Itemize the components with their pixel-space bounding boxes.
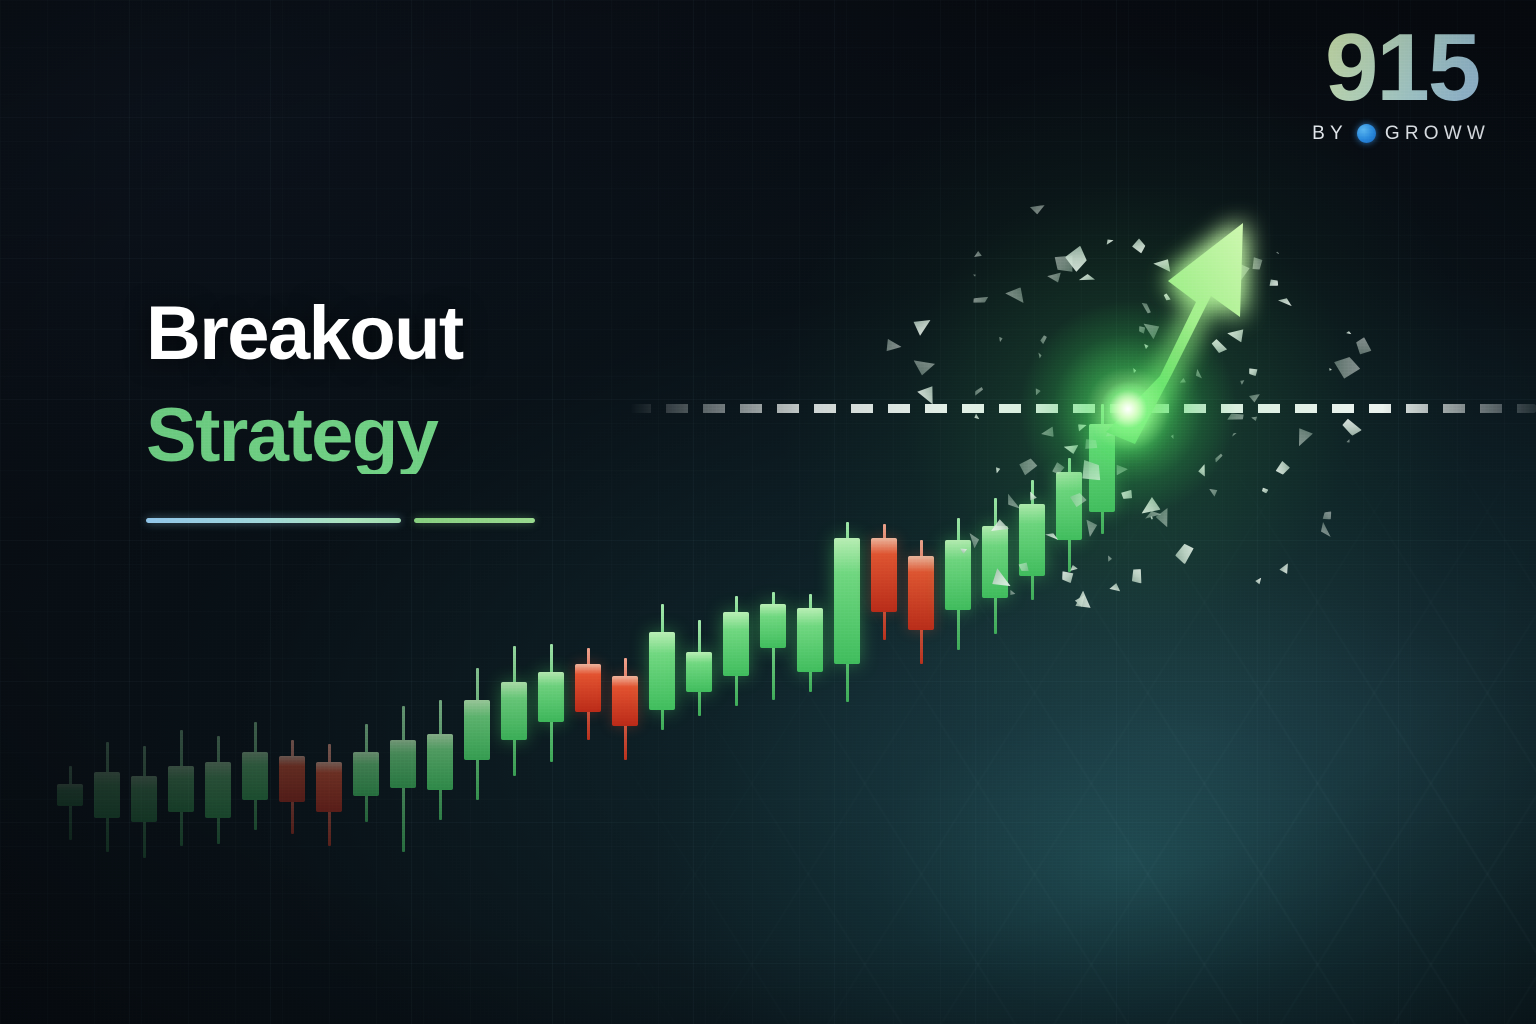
candle-body bbox=[316, 762, 342, 812]
headline-divider bbox=[146, 518, 546, 523]
candle-body bbox=[575, 664, 601, 712]
candle-24 bbox=[945, 518, 971, 650]
candle-2 bbox=[131, 746, 157, 858]
candle-body bbox=[1056, 472, 1082, 540]
groww-dot-icon bbox=[1357, 124, 1376, 143]
candle-body bbox=[649, 632, 675, 710]
candle-9 bbox=[390, 706, 416, 852]
logo-by-label: BY bbox=[1312, 123, 1348, 145]
candle-5 bbox=[242, 722, 268, 830]
candle-body bbox=[94, 772, 120, 818]
logo-byline: BY GROWW bbox=[1312, 123, 1492, 145]
candle-10 bbox=[427, 700, 453, 820]
candle-7 bbox=[316, 744, 342, 846]
candle-16 bbox=[649, 604, 675, 730]
candle-17 bbox=[686, 620, 712, 716]
candle-body bbox=[612, 676, 638, 726]
candle-body bbox=[834, 538, 860, 664]
candle-body bbox=[982, 526, 1008, 598]
logo-mark-915: 915 bbox=[1312, 18, 1492, 119]
divider-segment-green bbox=[414, 518, 535, 523]
brand-logo: 915 BY GROWW bbox=[1312, 18, 1492, 145]
candle-body bbox=[908, 556, 934, 630]
candle-12 bbox=[501, 646, 527, 776]
logo-brand-name: GROWW bbox=[1385, 123, 1490, 145]
candle-8 bbox=[353, 724, 379, 822]
headline-line-2: Strategy bbox=[146, 398, 766, 474]
candle-body bbox=[279, 756, 305, 802]
candle-22 bbox=[871, 524, 897, 640]
candle-6 bbox=[279, 740, 305, 834]
candle-body bbox=[242, 752, 268, 800]
candle-body bbox=[464, 700, 490, 760]
candle-15 bbox=[612, 658, 638, 760]
candle-body bbox=[390, 740, 416, 788]
candle-body bbox=[501, 682, 527, 740]
candle-body bbox=[205, 762, 231, 818]
candle-body bbox=[353, 752, 379, 796]
candle-body bbox=[168, 766, 194, 812]
candle-body bbox=[760, 604, 786, 648]
candle-3 bbox=[168, 730, 194, 846]
candle-body bbox=[686, 652, 712, 692]
candle-20 bbox=[797, 594, 823, 692]
candle-body bbox=[131, 776, 157, 822]
candle-27 bbox=[1056, 458, 1082, 572]
divider-segment-blue bbox=[146, 518, 401, 523]
candle-23 bbox=[908, 540, 934, 664]
candle-0 bbox=[57, 766, 83, 840]
candle-body bbox=[57, 784, 83, 806]
candle-13 bbox=[538, 644, 564, 762]
candle-14 bbox=[575, 648, 601, 740]
candle-25 bbox=[982, 498, 1008, 634]
candle-body bbox=[538, 672, 564, 722]
creative-banner: Breakout Strategy 915 BY GROWW bbox=[0, 0, 1536, 1024]
candle-body bbox=[723, 612, 749, 676]
candle-21 bbox=[834, 522, 860, 702]
candle-body bbox=[427, 734, 453, 790]
candle-11 bbox=[464, 668, 490, 800]
candle-4 bbox=[205, 736, 231, 844]
candle-body bbox=[797, 608, 823, 672]
candle-body bbox=[945, 540, 971, 610]
headline-line-1: Breakout bbox=[146, 296, 766, 372]
candle-19 bbox=[760, 592, 786, 700]
candle-1 bbox=[94, 742, 120, 852]
headline: Breakout Strategy bbox=[146, 296, 766, 474]
candle-body bbox=[871, 538, 897, 612]
candle-18 bbox=[723, 596, 749, 706]
